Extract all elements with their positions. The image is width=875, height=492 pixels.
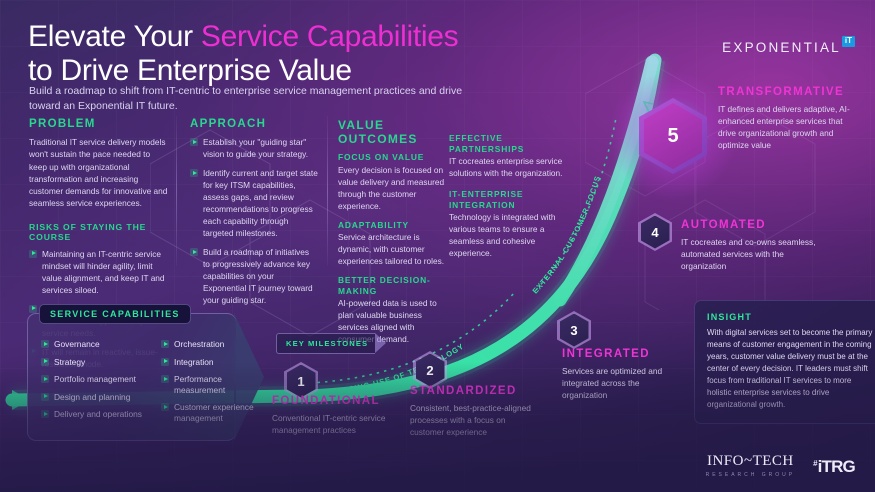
value-outcome-body: IT cocreates enterprise service solution… xyxy=(449,155,567,179)
column-approach: APPROACH Establish your "guiding star" v… xyxy=(190,118,318,313)
value-outcome-title: EFFECTIVE PARTNERSHIPS xyxy=(449,133,567,154)
insight-body: With digital services set to become the … xyxy=(707,327,875,411)
list-item: Customer experience management xyxy=(161,402,273,423)
bullet-triangle-icon xyxy=(41,410,49,418)
stage-desc: IT cocreates and co-owns seamless, autom… xyxy=(681,236,821,272)
bullet-triangle-icon xyxy=(41,340,49,348)
list-item-label: Customer experience management xyxy=(174,402,254,423)
value-outcome-block: EFFECTIVE PARTNERSHIPS IT cocreates ente… xyxy=(449,133,567,179)
bullet-triangle-icon xyxy=(190,138,198,146)
list-item-label: Performance measurement xyxy=(174,374,225,395)
stage-desc: Consistent, best-practice-aligned proces… xyxy=(410,402,534,438)
stage-desc: Conventional IT-centric service manageme… xyxy=(272,412,390,436)
approach-list: Establish your "guiding star" vision to … xyxy=(190,136,318,306)
list-item-label: Integration xyxy=(174,357,214,367)
bullet-triangle-icon xyxy=(41,358,49,366)
list-item: Build a roadmap of initiatives to progre… xyxy=(190,246,318,306)
title-line2: to Drive Enterprise Value xyxy=(28,54,352,87)
list-item-label: Design and planning xyxy=(54,392,130,402)
value-outcome-title: IT-ENTERPRISE INTEGRATION xyxy=(449,189,567,210)
key-milestones-tag: KEY MILESTONES xyxy=(276,333,375,354)
page-title: Elevate Your Service Capabilities to Dri… xyxy=(28,20,528,87)
info-tech-logo-tagline: RESEARCH GROUP xyxy=(706,472,796,478)
value-outcome-body: Every decision is focused on value deliv… xyxy=(338,164,448,212)
value-outcome-block: ADAPTABILITY Service architecture is dyn… xyxy=(338,220,448,268)
page-subtitle: Build a roadmap to shift from IT-centric… xyxy=(29,84,489,114)
title-plain: Elevate Your xyxy=(28,20,201,53)
list-item-label: Identify current and target state for ke… xyxy=(203,168,318,238)
infographic-canvas: INCREASING USE OF TECHNOLOGY EXTERNAL CU… xyxy=(0,0,875,492)
itrg-text: iTRG xyxy=(818,458,855,475)
info-tech-logo: INFO~TECH RESEARCH GROUP xyxy=(706,454,796,478)
list-item: Delivery and operations xyxy=(41,409,153,420)
stage-desc: IT defines and delivers adaptive, AI-enh… xyxy=(718,103,860,151)
capabilities-badge: SERVICE CAPABILITIES xyxy=(39,304,191,324)
list-item: Portfolio management xyxy=(41,374,153,385)
stage-node-4[interactable]: 4 xyxy=(638,213,672,251)
list-item-label: Establish your "guiding star" vision to … xyxy=(203,137,308,159)
stage-label-5: TRANSFORMATIVE IT defines and delivers a… xyxy=(718,86,860,151)
insight-card: INSIGHT With digital services set to bec… xyxy=(694,300,875,424)
list-item: Identify current and target state for ke… xyxy=(190,167,318,239)
list-item: Orchestration xyxy=(161,339,273,350)
list-item: Design and planning xyxy=(41,392,153,403)
list-item-label: Strategy xyxy=(54,357,85,367)
itrg-logo: # iTRG xyxy=(813,458,855,475)
value-outcome-body: Technology is integrated with various te… xyxy=(449,211,567,259)
list-item-label: Build a roadmap of initiatives to progre… xyxy=(203,247,313,305)
capabilities-column-right: Orchestration Integration Performance me… xyxy=(161,339,273,430)
info-tech-logo-name: INFO~TECH xyxy=(707,454,794,469)
list-item: Integration xyxy=(161,357,273,368)
bullet-triangle-icon xyxy=(41,375,49,383)
value-outcome-body: Service architecture is dynamic, with cu… xyxy=(338,231,448,267)
stage-node-5[interactable]: 5 xyxy=(639,98,707,174)
stage-name: STANDARDIZED xyxy=(410,385,534,399)
problem-heading: PROBLEM xyxy=(29,118,169,130)
footer-logos: INFO~TECH RESEARCH GROUP # iTRG xyxy=(706,454,855,478)
insight-heading: INSIGHT xyxy=(707,312,875,322)
column-divider-2 xyxy=(327,116,328,266)
list-item: Performance measurement xyxy=(161,374,273,395)
bullet-triangle-icon xyxy=(161,375,169,383)
list-item: Governance xyxy=(41,339,153,350)
stage-node-2[interactable]: 2 xyxy=(413,351,447,389)
list-item-label: Portfolio management xyxy=(54,374,136,384)
list-item-label: Orchestration xyxy=(174,339,224,349)
list-item-label: Governance xyxy=(54,339,100,349)
stage-name: FOUNDATIONAL xyxy=(272,395,390,409)
column-value-outcomes-right: EFFECTIVE PARTNERSHIPS IT cocreates ente… xyxy=(449,133,567,267)
list-item-label: Delivery and operations xyxy=(54,409,142,419)
stage-desc: Services are optimized and integrated ac… xyxy=(562,365,682,401)
value-outcome-block: FOCUS ON VALUE Every decision is focused… xyxy=(338,152,448,212)
column-value-outcomes: VALUE OUTCOMES FOCUS ON VALUE Every deci… xyxy=(338,118,448,353)
value-outcome-title: BETTER DECISION-MAKING xyxy=(338,275,448,296)
exponential-it-logo: EXPONENTIAL iT xyxy=(722,40,855,55)
value-outcome-block: IT-ENTERPRISE INTEGRATION Technology is … xyxy=(449,189,567,259)
bullet-triangle-icon xyxy=(29,250,37,258)
stage-name: AUTOMATED xyxy=(681,219,821,233)
stage-name: INTEGRATED xyxy=(562,348,682,362)
capabilities-column-left: Governance Strategy Portfolio management… xyxy=(41,339,153,430)
value-outcome-title: FOCUS ON VALUE xyxy=(338,152,448,163)
bullet-triangle-icon xyxy=(161,358,169,366)
stage-label-1: FOUNDATIONAL Conventional IT-centric ser… xyxy=(272,395,390,436)
risks-heading: RISKS OF STAYING THE COURSE xyxy=(29,222,169,242)
value-outcomes-heading: VALUE OUTCOMES xyxy=(338,118,448,146)
column-divider-1 xyxy=(176,116,177,266)
list-item: Establish your "guiding star" vision to … xyxy=(190,136,318,160)
bullet-triangle-icon xyxy=(41,393,49,401)
stage-label-3: INTEGRATED Services are optimized and in… xyxy=(562,348,682,401)
value-outcome-title: ADAPTABILITY xyxy=(338,220,448,231)
list-item: Maintaining an IT-centric service mindse… xyxy=(29,248,169,296)
bullet-triangle-icon xyxy=(190,169,198,177)
list-item: Strategy xyxy=(41,357,153,368)
bullet-triangle-icon xyxy=(161,403,169,411)
capabilities-content: SERVICE CAPABILITIES Governance Strategy… xyxy=(27,313,291,441)
bullet-triangle-icon xyxy=(190,248,198,256)
stage-label-4: AUTOMATED IT cocreates and co-owns seaml… xyxy=(681,219,821,272)
list-item-label: Maintaining an IT-centric service mindse… xyxy=(42,249,165,295)
stage-name: TRANSFORMATIVE xyxy=(718,86,860,100)
bullet-triangle-icon xyxy=(29,305,37,313)
approach-heading: APPROACH xyxy=(190,118,318,130)
capabilities-columns: Governance Strategy Portfolio management… xyxy=(41,339,277,430)
title-accent: Service Capabilities xyxy=(201,20,458,53)
bullet-triangle-icon xyxy=(161,340,169,348)
problem-body: Traditional IT service delivery models w… xyxy=(29,136,169,210)
exponential-word: EXPONENTIAL xyxy=(722,40,841,55)
stage-label-2: STANDARDIZED Consistent, best-practice-a… xyxy=(410,385,534,438)
it-badge: iT xyxy=(842,36,855,47)
stage-node-3[interactable]: 3 xyxy=(557,311,591,349)
